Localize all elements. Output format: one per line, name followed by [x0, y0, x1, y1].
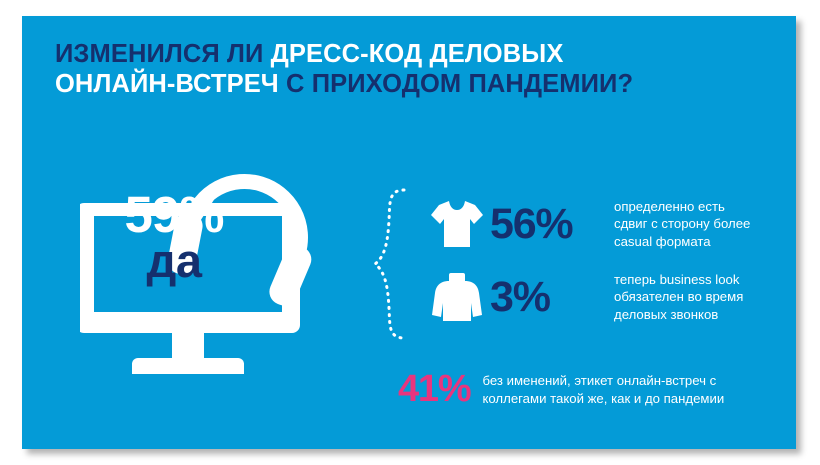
desktop-monitor-with-headphones-icon: [80, 146, 370, 376]
stat-description: теперь business look обязателен во время…: [614, 271, 743, 322]
headline-line-2: ОНЛАЙН-ВСТРЕЧ С ПРИХОДОМ ПАНДЕМИИ?: [55, 70, 755, 100]
stat-description-line-2: сдвиг с сторону более: [614, 215, 750, 232]
stat-description-line-2: обязателен во время: [614, 288, 743, 305]
headline-line-1-light: ДРЕСС-КОД ДЕЛОВЫХ: [271, 40, 564, 68]
bottom-stat-description-line-2: коллегами такой же, как и до пандемии: [482, 390, 724, 407]
stat-description: определенно есть сдвиг с сторону более c…: [614, 198, 750, 249]
headline-line-2-dark: С ПРИХОДОМ ПАНДЕМИИ?: [286, 70, 633, 98]
stat-row: 56% определенно есть сдвиг с сторону бол…: [426, 198, 750, 250]
bottom-stat-description: без именений, этикет онлайн-встреч с кол…: [482, 372, 724, 406]
stat-value: 56%: [490, 200, 598, 249]
bottom-stat-value: 41%: [398, 368, 470, 411]
stat-row: 3% теперь business look обязателен во вр…: [426, 271, 743, 323]
headline-line-1: ИЗМЕНИЛСЯ ЛИ ДРЕСС-КОД ДЕЛОВЫХ: [55, 40, 755, 70]
stat-description-line-3: casual формата: [614, 233, 750, 250]
stat-description-line-1: теперь business look: [614, 271, 743, 288]
bottom-stat-description-line-1: без именений, этикет онлайн-встреч с: [482, 372, 724, 389]
monitor-stat-block: 59% да: [80, 146, 370, 376]
headline-line-2-light: ОНЛАЙН-ВСТРЕЧ: [55, 70, 286, 98]
page-title: ИЗМЕНИЛСЯ ЛИ ДРЕСС-КОД ДЕЛОВЫХ ОНЛАЙН-ВС…: [55, 40, 755, 100]
bottom-stat-row: 41% без именений, этикет онлайн-встреч с…: [398, 368, 724, 411]
stat-value: 3%: [490, 273, 598, 322]
dotted-curly-brace-icon: [370, 184, 410, 344]
stat-description-line-1: определенно есть: [614, 198, 750, 215]
stat-description-line-3: деловых звонков: [614, 306, 743, 323]
t-shirt-icon: [426, 198, 488, 250]
infographic-card: ИЗМЕНИЛСЯ ЛИ ДРЕСС-КОД ДЕЛОВЫХ ОНЛАЙН-ВС…: [22, 16, 796, 449]
long-sleeve-sweater-icon: [426, 271, 488, 323]
headline-line-1-dark: ИЗМЕНИЛСЯ ЛИ: [55, 40, 271, 68]
